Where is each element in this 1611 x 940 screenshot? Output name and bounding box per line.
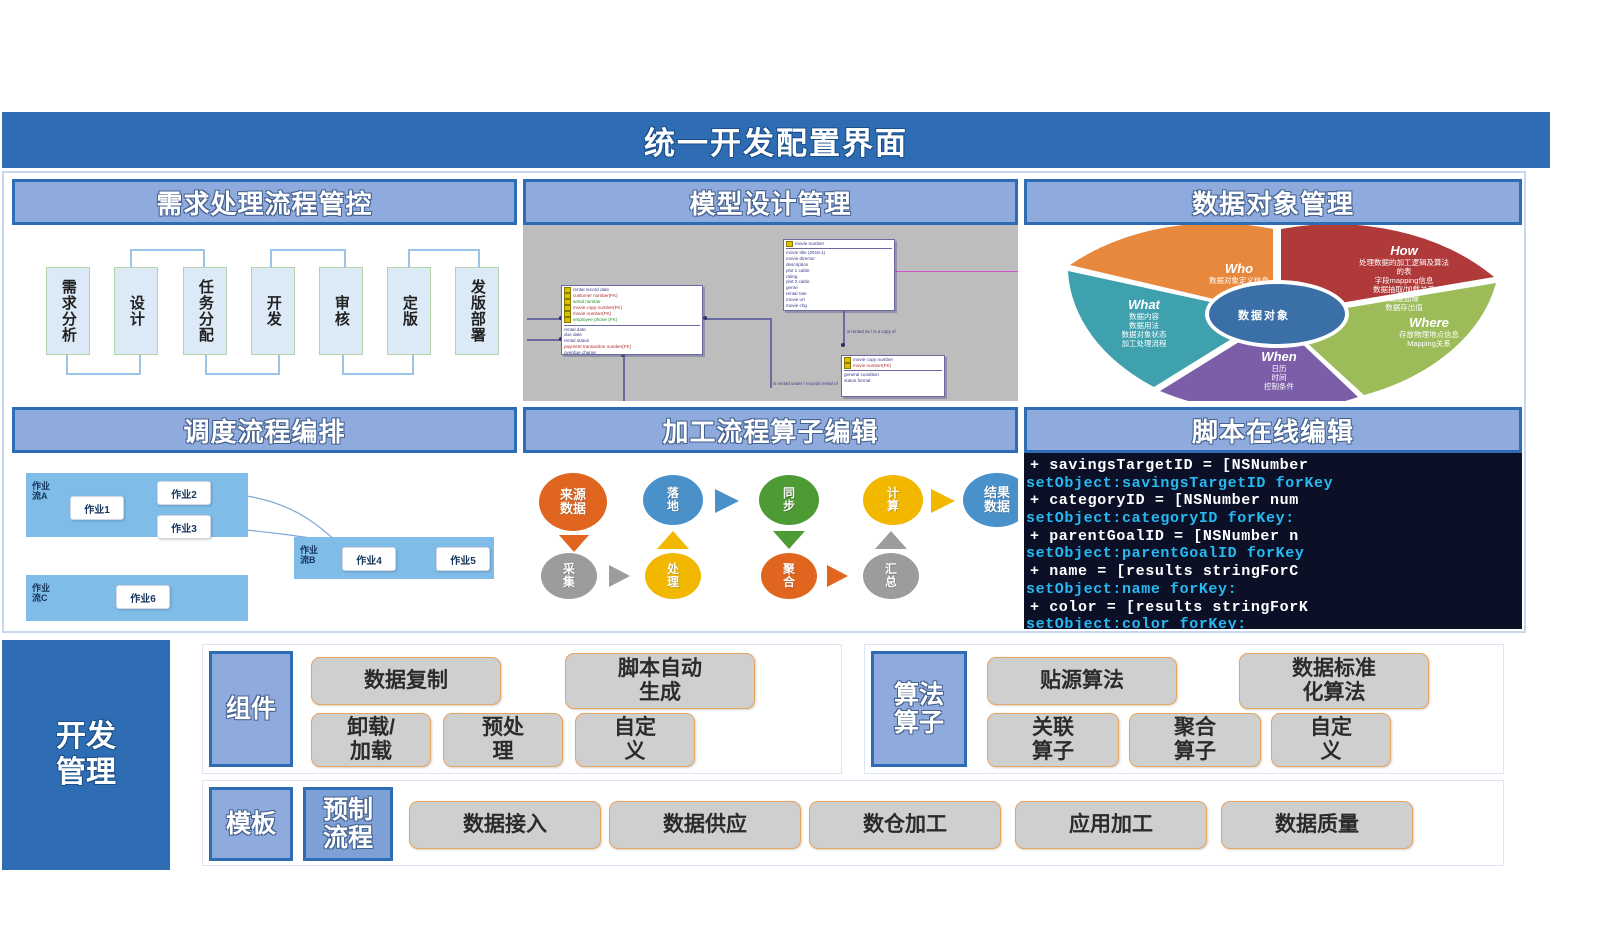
dev-management-section: 开发管理 组件 数据复制 脚本自动生成 卸载/加载 预处理 自定义 算法算子 (2, 640, 1550, 874)
er-entity-attrs: rental date due date rental status payme… (564, 327, 700, 355)
relation-line (527, 318, 561, 320)
chip-script-autogen[interactable]: 脚本自动生成 (565, 653, 755, 709)
er-relation-label: is rented under / records rental of (773, 381, 838, 387)
arrow-right-icon (931, 489, 955, 513)
code-line: setObject:savingsTargetID forKey (1024, 475, 1522, 493)
chip-aggregate-operator[interactable]: 聚合算子 (1129, 713, 1261, 767)
connector (278, 353, 280, 375)
connector (205, 353, 207, 375)
connector (408, 249, 410, 269)
connector (270, 249, 272, 269)
connector (342, 373, 414, 375)
chip-standardization-algorithm[interactable]: 数据标准化算法 (1239, 653, 1429, 709)
connector (203, 249, 205, 269)
panel-requirement-title: 需求处理流程管控 (156, 184, 372, 221)
panel-script-header: 脚本在线编辑 (1024, 407, 1522, 453)
dev-row-algorithms: 算法算子 贴源算法 数据标准化算法 关联算子 聚合算子 自定义 (864, 644, 1504, 774)
subcategory-label: 预制流程 (323, 796, 373, 852)
operator-node-source[interactable]: 来源数据 (539, 473, 607, 531)
connector (270, 249, 346, 251)
connector (66, 373, 141, 375)
arrow-down-icon (559, 535, 589, 552)
er-entity-keys: rental record date customer number(FK) s… (564, 287, 700, 324)
code-line: + parentGoalID = [NSNumber n (1024, 528, 1522, 546)
chip-warehouse-process[interactable]: 数仓加工 (809, 801, 1001, 849)
chip-data-supply[interactable]: 数据供应 (609, 801, 801, 849)
chip-custom-operator[interactable]: 自定义 (1271, 713, 1391, 767)
arrow-up-icon (657, 531, 689, 549)
operator-node-collect[interactable]: 采集 (541, 553, 597, 599)
panel-operator-title: 加工流程算子编辑 (662, 412, 878, 449)
dev-management-title: 开发管理 (56, 719, 116, 791)
divider (844, 370, 942, 371)
connector (478, 249, 480, 269)
panel-grid: 需求处理流程管控 (2, 171, 1526, 633)
connector (66, 353, 68, 375)
er-entity[interactable]: MOVIE_COPY movie copy number movie numbe… (841, 355, 945, 397)
connector (342, 353, 344, 375)
panel-model-design-header: 模型设计管理 (523, 179, 1018, 225)
category-label: 算法算子 (894, 681, 944, 737)
panel-operator-header: 加工流程算子编辑 (523, 407, 1018, 453)
arrow-right-icon (715, 489, 739, 513)
panel-data-object-body: Who 数据对象定义信息 How 处理数据的加工逻辑及算法 的表 字段mappi… (1024, 225, 1522, 401)
divider (786, 248, 892, 249)
chip-custom-component[interactable]: 自定义 (575, 713, 695, 767)
panel-script[interactable]: 脚本在线编辑 + savingsTargetID = [NSNumber set… (1024, 407, 1522, 629)
relation-line (843, 309, 845, 345)
category-algorithms[interactable]: 算法算子 (871, 651, 967, 767)
panel-data-object-title: 数据对象管理 (1192, 184, 1354, 221)
panel-requirement[interactable]: 需求处理流程管控 (12, 179, 517, 401)
panel-model-design-title: 模型设计管理 (689, 184, 851, 221)
er-relation-label: is rented as / is a copy of (847, 329, 896, 335)
flow-step[interactable]: 发版部署 (455, 267, 499, 355)
job-group-label: 作业流C (32, 583, 56, 603)
panel-requirement-body: 需求分析 设计 任务分配 开发 审核 定版 发版部署 (12, 225, 517, 401)
chip-data-copy[interactable]: 数据复制 (311, 657, 501, 705)
panel-schedule[interactable]: 调度流程编排 作业流A 作业1 (12, 407, 517, 629)
flow-step[interactable]: 任务分配 (183, 267, 227, 355)
code-editor[interactable]: + savingsTargetID = [NSNumber setObject:… (1024, 453, 1522, 629)
operator-node-summary[interactable]: 汇总 (863, 553, 919, 599)
er-entity[interactable]: MOVIE_RENTAL_RECORD rental record date c… (561, 285, 703, 355)
arrow-up-icon (875, 531, 907, 549)
operator-node-compute[interactable]: 计算 (863, 475, 923, 525)
panel-requirement-header: 需求处理流程管控 (12, 179, 517, 225)
code-line: setObject:color forKey: (1024, 616, 1522, 629)
job-group-label: 作业流B (300, 545, 324, 565)
category-templates[interactable]: 模板 (209, 787, 293, 861)
er-entity-attrs: movie title (2019.1) movie director desc… (786, 250, 892, 309)
connector (139, 353, 141, 375)
wheel-center-label: 数据对象 (1238, 307, 1290, 323)
slide-canvas: 统一开发配置界面 需求处理流程管控 (0, 0, 1611, 940)
divider (564, 325, 700, 326)
relation-line (623, 355, 625, 401)
flow-step[interactable]: 定版 (387, 267, 431, 355)
connector (130, 249, 132, 269)
job-node[interactable]: 作业2 (157, 481, 211, 505)
relation-line (705, 318, 771, 320)
panel-data-object-header: 数据对象管理 (1024, 179, 1522, 225)
code-line: setObject:name forKey: (1024, 581, 1522, 599)
job-group-label: 作业流A (32, 481, 56, 501)
arrow-right-icon (827, 565, 848, 587)
flow-step[interactable]: 需求分析 (46, 267, 90, 355)
operator-node-aggregate[interactable]: 聚合 (761, 553, 817, 599)
job-node[interactable]: 作业3 (157, 515, 211, 539)
dev-management-content: 组件 数据复制 脚本自动生成 卸载/加载 预处理 自定义 算法算子 贴源算法 数… (174, 640, 1526, 870)
dev-row-components: 组件 数据复制 脚本自动生成 卸载/加载 预处理 自定义 (202, 644, 842, 774)
job-group-a[interactable]: 作业流A (26, 473, 248, 537)
connector (412, 353, 414, 375)
connector (408, 249, 480, 251)
panel-model-design[interactable]: 模型设计管理 (523, 179, 1018, 401)
flow-step[interactable]: 审核 (319, 267, 363, 355)
panel-operator[interactable]: 加工流程算子编辑 来源数据 采集 处理 落地 同步 聚合 (523, 407, 1018, 629)
dev-row-templates: 模板 预制流程 数据接入 数据供应 数仓加工 应用加工 数据质量 (202, 780, 1504, 866)
relation-line (770, 318, 772, 388)
connector (205, 373, 280, 375)
job-node[interactable]: 作业1 (70, 496, 124, 520)
job-node[interactable]: 作业5 (436, 547, 490, 571)
relation-endpoint (703, 316, 707, 320)
code-line: setObject:categoryID forKey: (1024, 510, 1522, 528)
operator-node-result[interactable]: 结果数据 (963, 473, 1018, 527)
connector (130, 249, 205, 251)
operator-node-sync[interactable]: 同步 (759, 475, 819, 525)
chip-source-algorithm[interactable]: 贴源算法 (987, 657, 1177, 705)
chip-unload-load[interactable]: 卸载/加载 (311, 713, 431, 767)
arrow-down-icon (773, 531, 805, 549)
panel-model-design-body: MOVIE_RENTAL_RECORD rental record date c… (523, 225, 1018, 401)
job-node[interactable]: 作业4 (342, 547, 396, 571)
category-label: 模板 (226, 810, 276, 838)
chip-data-quality[interactable]: 数据质量 (1221, 801, 1413, 849)
relation-endpoint (841, 343, 845, 347)
subcategory-preset-flow[interactable]: 预制流程 (303, 787, 393, 861)
er-diagram-canvas[interactable]: MOVIE_RENTAL_RECORD rental record date c… (523, 225, 1018, 401)
code-line: + name = [results stringForC (1024, 563, 1522, 581)
panel-operator-body: 来源数据 采集 处理 落地 同步 聚合 计算 (523, 453, 1018, 629)
chip-join-operator[interactable]: 关联算子 (987, 713, 1119, 767)
panel-schedule-header: 调度流程编排 (12, 407, 517, 453)
code-line: setObject:parentGoalID forKey (1024, 545, 1522, 563)
app-frame: 统一开发配置界面 需求处理流程管控 (2, 112, 1550, 840)
panel-data-object[interactable]: 数据对象管理 (1024, 179, 1522, 401)
dev-management-sidebar[interactable]: 开发管理 (2, 640, 170, 870)
code-line: + savingsTargetID = [NSNumber (1024, 457, 1522, 475)
chip-data-ingest[interactable]: 数据接入 (409, 801, 601, 849)
chip-preprocess[interactable]: 预处理 (443, 713, 563, 767)
panel-schedule-title: 调度流程编排 (183, 412, 345, 449)
connector (344, 249, 346, 269)
app-title-bar: 统一开发配置界面 (2, 112, 1550, 168)
flow-step[interactable]: 开发 (251, 267, 295, 355)
panel-script-title: 脚本在线编辑 (1192, 412, 1354, 449)
code-line: + categoryID = [NSNumber num (1024, 492, 1522, 510)
panel-schedule-body: 作业流A 作业1 作业2 作业3 作业流B 作业4 作业5 作业流C (12, 453, 517, 629)
panel-script-body: + savingsTargetID = [NSNumber setObject:… (1024, 453, 1522, 629)
page-title: 统一开发配置界面 (644, 118, 908, 163)
operator-node-process[interactable]: 处理 (645, 553, 701, 599)
arrow-right-icon (609, 565, 630, 587)
er-entity[interactable]: MOVIE movie number movie title (2019.1) … (783, 239, 895, 311)
relation-line (527, 339, 561, 341)
job-node[interactable]: 作业6 (116, 585, 170, 609)
operator-node-land[interactable]: 落地 (643, 475, 703, 525)
chip-application-process[interactable]: 应用加工 (1015, 801, 1207, 849)
code-line: + color = [results stringForK (1024, 599, 1522, 617)
flow-step[interactable]: 设计 (114, 267, 158, 355)
category-label: 组件 (226, 695, 276, 723)
category-components[interactable]: 组件 (209, 651, 293, 767)
